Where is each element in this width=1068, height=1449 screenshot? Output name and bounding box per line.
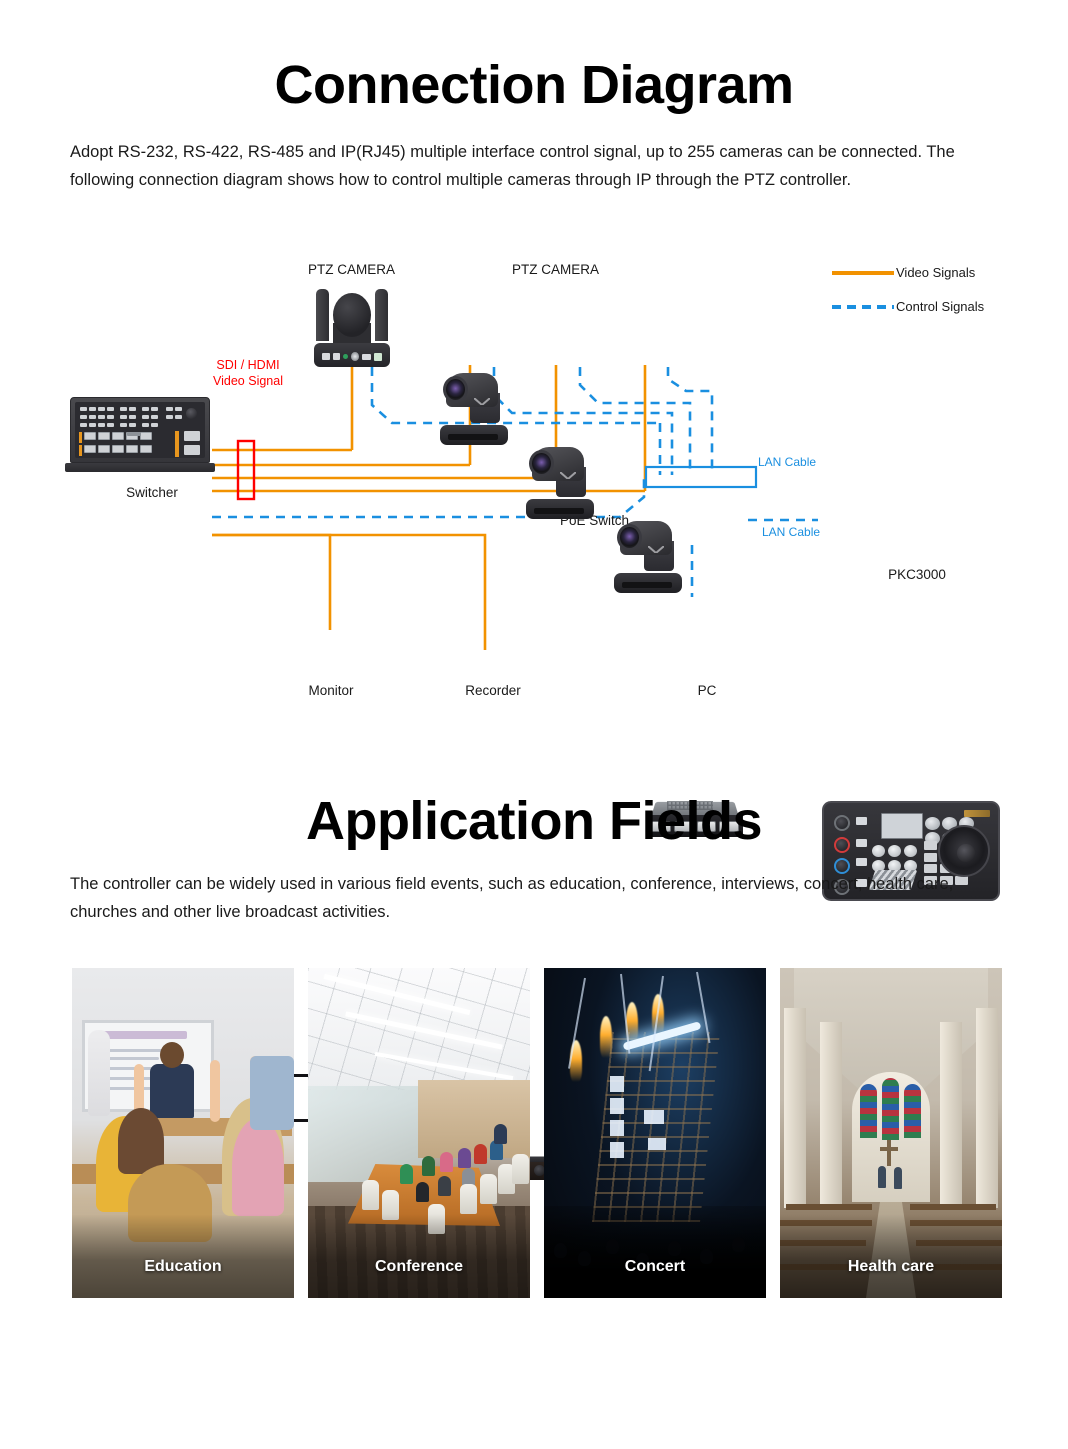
attendee-7 [416, 1182, 429, 1202]
camera-brand-logo [474, 398, 490, 405]
lan-cable-box [646, 467, 756, 487]
altar-cross [887, 1140, 891, 1166]
camera-brand-logo [648, 546, 664, 553]
camera-port-rs232 [322, 353, 330, 360]
camera-lens [443, 376, 468, 403]
app-caption-health-care: Health care [780, 1214, 1002, 1298]
pew-right-1 [910, 1204, 996, 1210]
visitor-1 [878, 1166, 886, 1188]
column-right-outer [976, 1008, 998, 1208]
device-ptz-camera-3 [526, 445, 594, 519]
student-hair-brown [118, 1108, 164, 1174]
switcher-base [65, 463, 215, 472]
switcher-cut-button[interactable] [184, 431, 200, 441]
presenter [494, 1124, 507, 1144]
camera-port-lan [374, 353, 382, 361]
switcher-bus-bar-a [79, 432, 82, 443]
chair-1 [362, 1180, 379, 1210]
label-pkc3000: PKC3000 [852, 567, 982, 582]
label-recorder: Recorder [448, 683, 538, 698]
visitor-2 [894, 1167, 902, 1189]
switcher-keyrow-2 [80, 415, 182, 419]
camera-port-slot [534, 508, 584, 514]
column-left-inner [820, 1022, 842, 1208]
chair-6 [512, 1154, 529, 1184]
switcher-body [70, 397, 210, 463]
switcher-auto-button[interactable] [184, 445, 200, 455]
teacher-head [160, 1042, 184, 1068]
led-panel-6 [648, 1138, 666, 1150]
led-panel-3 [610, 1120, 624, 1136]
label-switcher: Switcher [112, 485, 192, 500]
teacher-figure [150, 1064, 194, 1118]
led-panel-5 [644, 1110, 664, 1124]
attendee-2 [440, 1152, 453, 1172]
device-ptz-camera-4 [614, 519, 682, 593]
switcher-front-panel [75, 402, 205, 458]
label-lan-cable-bottom: LAN Cable [762, 525, 820, 539]
column-right-inner [940, 1022, 962, 1208]
switcher-bus-bar-b [79, 445, 82, 456]
column-left-outer [784, 1008, 806, 1208]
app-card-concert[interactable]: Concert [544, 968, 766, 1298]
switcher-tbar [175, 431, 179, 457]
switcher-knob[interactable] [186, 408, 197, 419]
app-caption-concert: Concert [544, 1214, 766, 1298]
attendee-4 [474, 1144, 487, 1164]
app-card-conference[interactable]: Conference [308, 968, 530, 1298]
device-ptz-camera-2 [440, 371, 508, 445]
attendee-3 [458, 1148, 471, 1168]
device-switcher [70, 397, 215, 472]
device-ptz-camera-rear [314, 289, 390, 367]
camera-port-slot [622, 582, 672, 588]
camera-port-hdmi [362, 354, 370, 360]
attendee-6 [400, 1164, 413, 1184]
stained-glass-right [904, 1084, 921, 1138]
student-denim [250, 1056, 294, 1130]
app-card-education[interactable]: Education [72, 968, 294, 1298]
application-gallery: Education [72, 968, 1002, 1298]
connection-diagram: Video Signals Control Signals PTZ CAMERA… [0, 245, 1068, 715]
led-panel-2 [610, 1098, 624, 1114]
camera-port-strip [322, 352, 382, 361]
label-lan-cable-top: LAN Cable [758, 455, 816, 469]
switcher-program-row [84, 432, 152, 440]
camera-arm-left [316, 289, 329, 341]
label-pc: PC [672, 683, 742, 698]
page-title-connection-diagram: Connection Diagram [0, 54, 1068, 116]
pyro-flame-2 [600, 1016, 612, 1058]
switcher-keyrow-1 [80, 407, 182, 411]
camera-port-rs485 [333, 353, 341, 360]
label-sdi-hdmi-line1: SDI / HDMI [208, 357, 288, 373]
product-page: Connection Diagram Adopt RS-232, RS-422,… [0, 0, 1068, 1449]
led-panel-4 [610, 1142, 624, 1158]
app-caption-education: Education [72, 1214, 294, 1298]
camera-port-slot [448, 434, 498, 440]
pkc-button-c[interactable] [856, 858, 867, 866]
chair-3 [460, 1184, 477, 1214]
app-card-health-care[interactable]: Health care [780, 968, 1002, 1298]
attendee-1 [422, 1156, 435, 1176]
attendee-8 [438, 1176, 451, 1196]
camera-arm-right [375, 289, 388, 341]
raised-hand-2 [210, 1060, 220, 1122]
label-ptz-camera-right: PTZ CAMERA [512, 262, 599, 277]
camera-lens-housing [333, 293, 371, 337]
app-caption-conference: Conference [308, 1214, 530, 1298]
camera-lens [617, 524, 642, 551]
camera-lens [529, 450, 554, 477]
camera-port-sdi [351, 352, 359, 361]
switcher-preview-row [84, 445, 152, 453]
camera-brand-logo [560, 472, 576, 479]
legend-label-control-signals: Control Signals [896, 299, 984, 314]
stained-glass-center [882, 1078, 899, 1140]
label-ptz-camera-left: PTZ CAMERA [308, 262, 395, 277]
student-pink [232, 1118, 284, 1216]
intro-paragraph-connection: Adopt RS-232, RS-422, RS-485 and IP(RJ45… [70, 138, 1010, 194]
intro-paragraph-application: The controller can be widely used in var… [70, 870, 1010, 926]
switcher-keyrow-3 [80, 423, 158, 427]
page-title-application-fields: Application Fields [0, 790, 1068, 852]
pew-left-1 [786, 1204, 872, 1210]
switcher-slider[interactable] [127, 432, 141, 436]
label-sdi-hdmi-line2: Video Signal [200, 373, 296, 389]
label-monitor: Monitor [291, 683, 371, 698]
legend-label-video-signals: Video Signals [896, 265, 975, 280]
led-panel-1 [610, 1076, 624, 1092]
chair-4 [480, 1174, 497, 1204]
stained-glass-left [860, 1084, 877, 1138]
camera-led [343, 354, 348, 359]
skeleton-model [88, 1030, 110, 1116]
